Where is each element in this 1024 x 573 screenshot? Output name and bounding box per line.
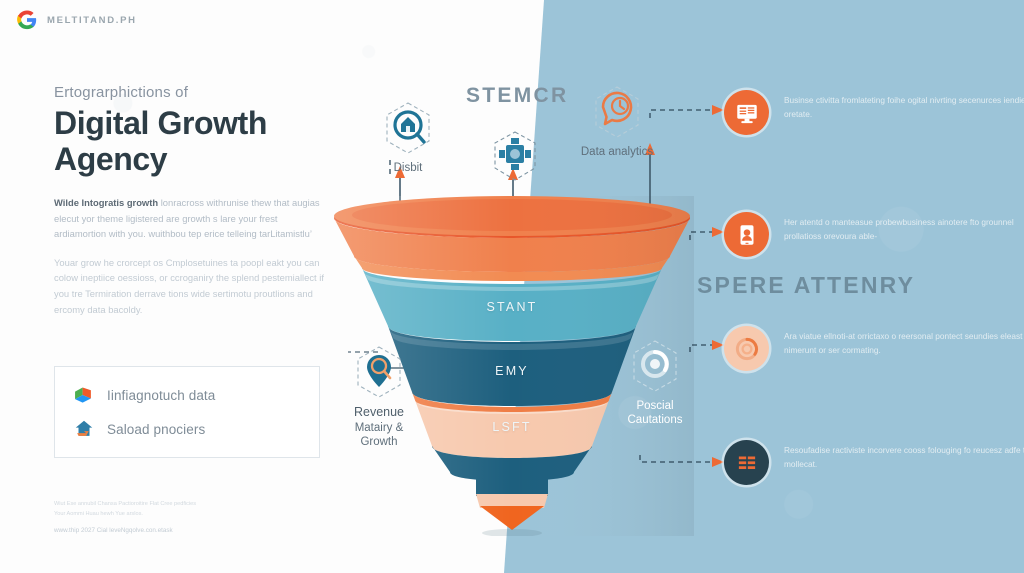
- infographic-canvas: MELTITAND.PH Ertograrphictions of Digita…: [0, 0, 1024, 573]
- brand-name: MELTITAND.PH: [47, 15, 137, 26]
- google-g-icon: [16, 9, 38, 31]
- pin-search-icon: [353, 344, 405, 400]
- funnel-node-label-disbit: Disbit: [372, 161, 444, 175]
- feature-label-0: Iinfiagnotuch data: [107, 388, 215, 403]
- brand-logo: MELTITAND.PH: [16, 9, 137, 31]
- right-list-text-2: Ara viatue ellnoti-at orrictaxo o reerso…: [784, 326, 1024, 358]
- right-list-text-0: Businse ctivitta fromlateting foihe ogit…: [784, 90, 1024, 122]
- feature-card: Iinfiagnotuch data Saload pnociers: [54, 366, 320, 458]
- right-list-item-0[interactable]: Businse ctivitta fromlateting foihe ogit…: [724, 90, 1024, 135]
- secondary-paragraph: Youar grow he crorcept os Cmplosetuines …: [54, 255, 324, 317]
- footer-url[interactable]: www.thip 2027 Cial leveNgqolve.con.etask: [54, 527, 334, 534]
- funnel-label-0: STANT: [330, 300, 694, 314]
- funnel-node-label-data-analytics: Data analytics: [562, 145, 672, 159]
- right-list-item-2[interactable]: Ara viatue ellnoti-at orrictaxo o reerso…: [724, 326, 1024, 371]
- funnel-node-revenue[interactable]: Revenue Matairy & Growth: [336, 344, 422, 449]
- home-search-icon: [382, 100, 434, 156]
- right-list-item-1[interactable]: Her atentd o manteasue probewbusiness ai…: [724, 212, 1024, 257]
- donut-ring-icon: [724, 326, 769, 371]
- intro-paragraph-strong: Wilde Intogratis growth: [54, 197, 158, 208]
- tablet-user-icon: [724, 212, 769, 257]
- center-heading: STEMCR: [466, 84, 568, 108]
- clock-chat-icon: [591, 84, 643, 140]
- monitor-report-icon: [724, 90, 769, 135]
- footer-block: Wiut Ese annubil Chansa Pactioroitire Fl…: [54, 500, 334, 534]
- crosshair-icon: [489, 128, 541, 184]
- title-line-2: Agency: [54, 141, 167, 177]
- funnel-node-data-analytics[interactable]: Data analytics: [562, 84, 672, 159]
- footer-line-1: Wiut Ese annubil Chansa Pactioroitire Fl…: [54, 500, 334, 510]
- right-list-text-1: Her atentd o manteasue probewbusiness ai…: [784, 212, 1024, 244]
- eyebrow-text: Ertograrphictions of: [54, 84, 324, 101]
- left-content-column: Ertograrphictions of Digital Growth Agen…: [54, 84, 324, 317]
- funnel-node-label-social: Poscial Cautations: [610, 399, 700, 428]
- funnel-node-center[interactable]: [484, 128, 546, 184]
- feature-item-1[interactable]: Saload pnociers: [73, 418, 301, 440]
- right-list-item-3[interactable]: Resoufadise ractiviste incorvere cooss f…: [724, 440, 1024, 485]
- right-list-text-3: Resoufadise ractiviste incorvere cooss f…: [784, 440, 1024, 472]
- donut-chart-icon: [629, 338, 681, 394]
- title-line-1: Digital Growth: [54, 105, 267, 141]
- feature-item-0[interactable]: Iinfiagnotuch data: [73, 384, 301, 406]
- right-section-heading: SPERE ATTENRY: [697, 272, 915, 299]
- footer-line-2: Your Aommi Huau hewh Yue arslos.: [54, 510, 334, 520]
- funnel-node-label-revenue: Revenue Matairy & Growth: [336, 405, 422, 449]
- intro-paragraph: Wilde Intogratis growth lonracross withr…: [54, 195, 324, 242]
- chart-blocks-icon: [73, 384, 95, 406]
- funnel-node-social[interactable]: Poscial Cautations: [610, 338, 700, 428]
- revenue-label-sub: Matairy & Growth: [355, 422, 404, 448]
- page-title: Digital Growth Agency: [54, 105, 324, 178]
- house-arrow-icon: [73, 418, 95, 440]
- feature-label-1: Saload pnociers: [107, 422, 205, 437]
- list-bars-icon: [724, 440, 769, 485]
- revenue-label-strong: Revenue: [336, 405, 422, 421]
- funnel-node-disbit[interactable]: Disbit: [372, 100, 444, 175]
